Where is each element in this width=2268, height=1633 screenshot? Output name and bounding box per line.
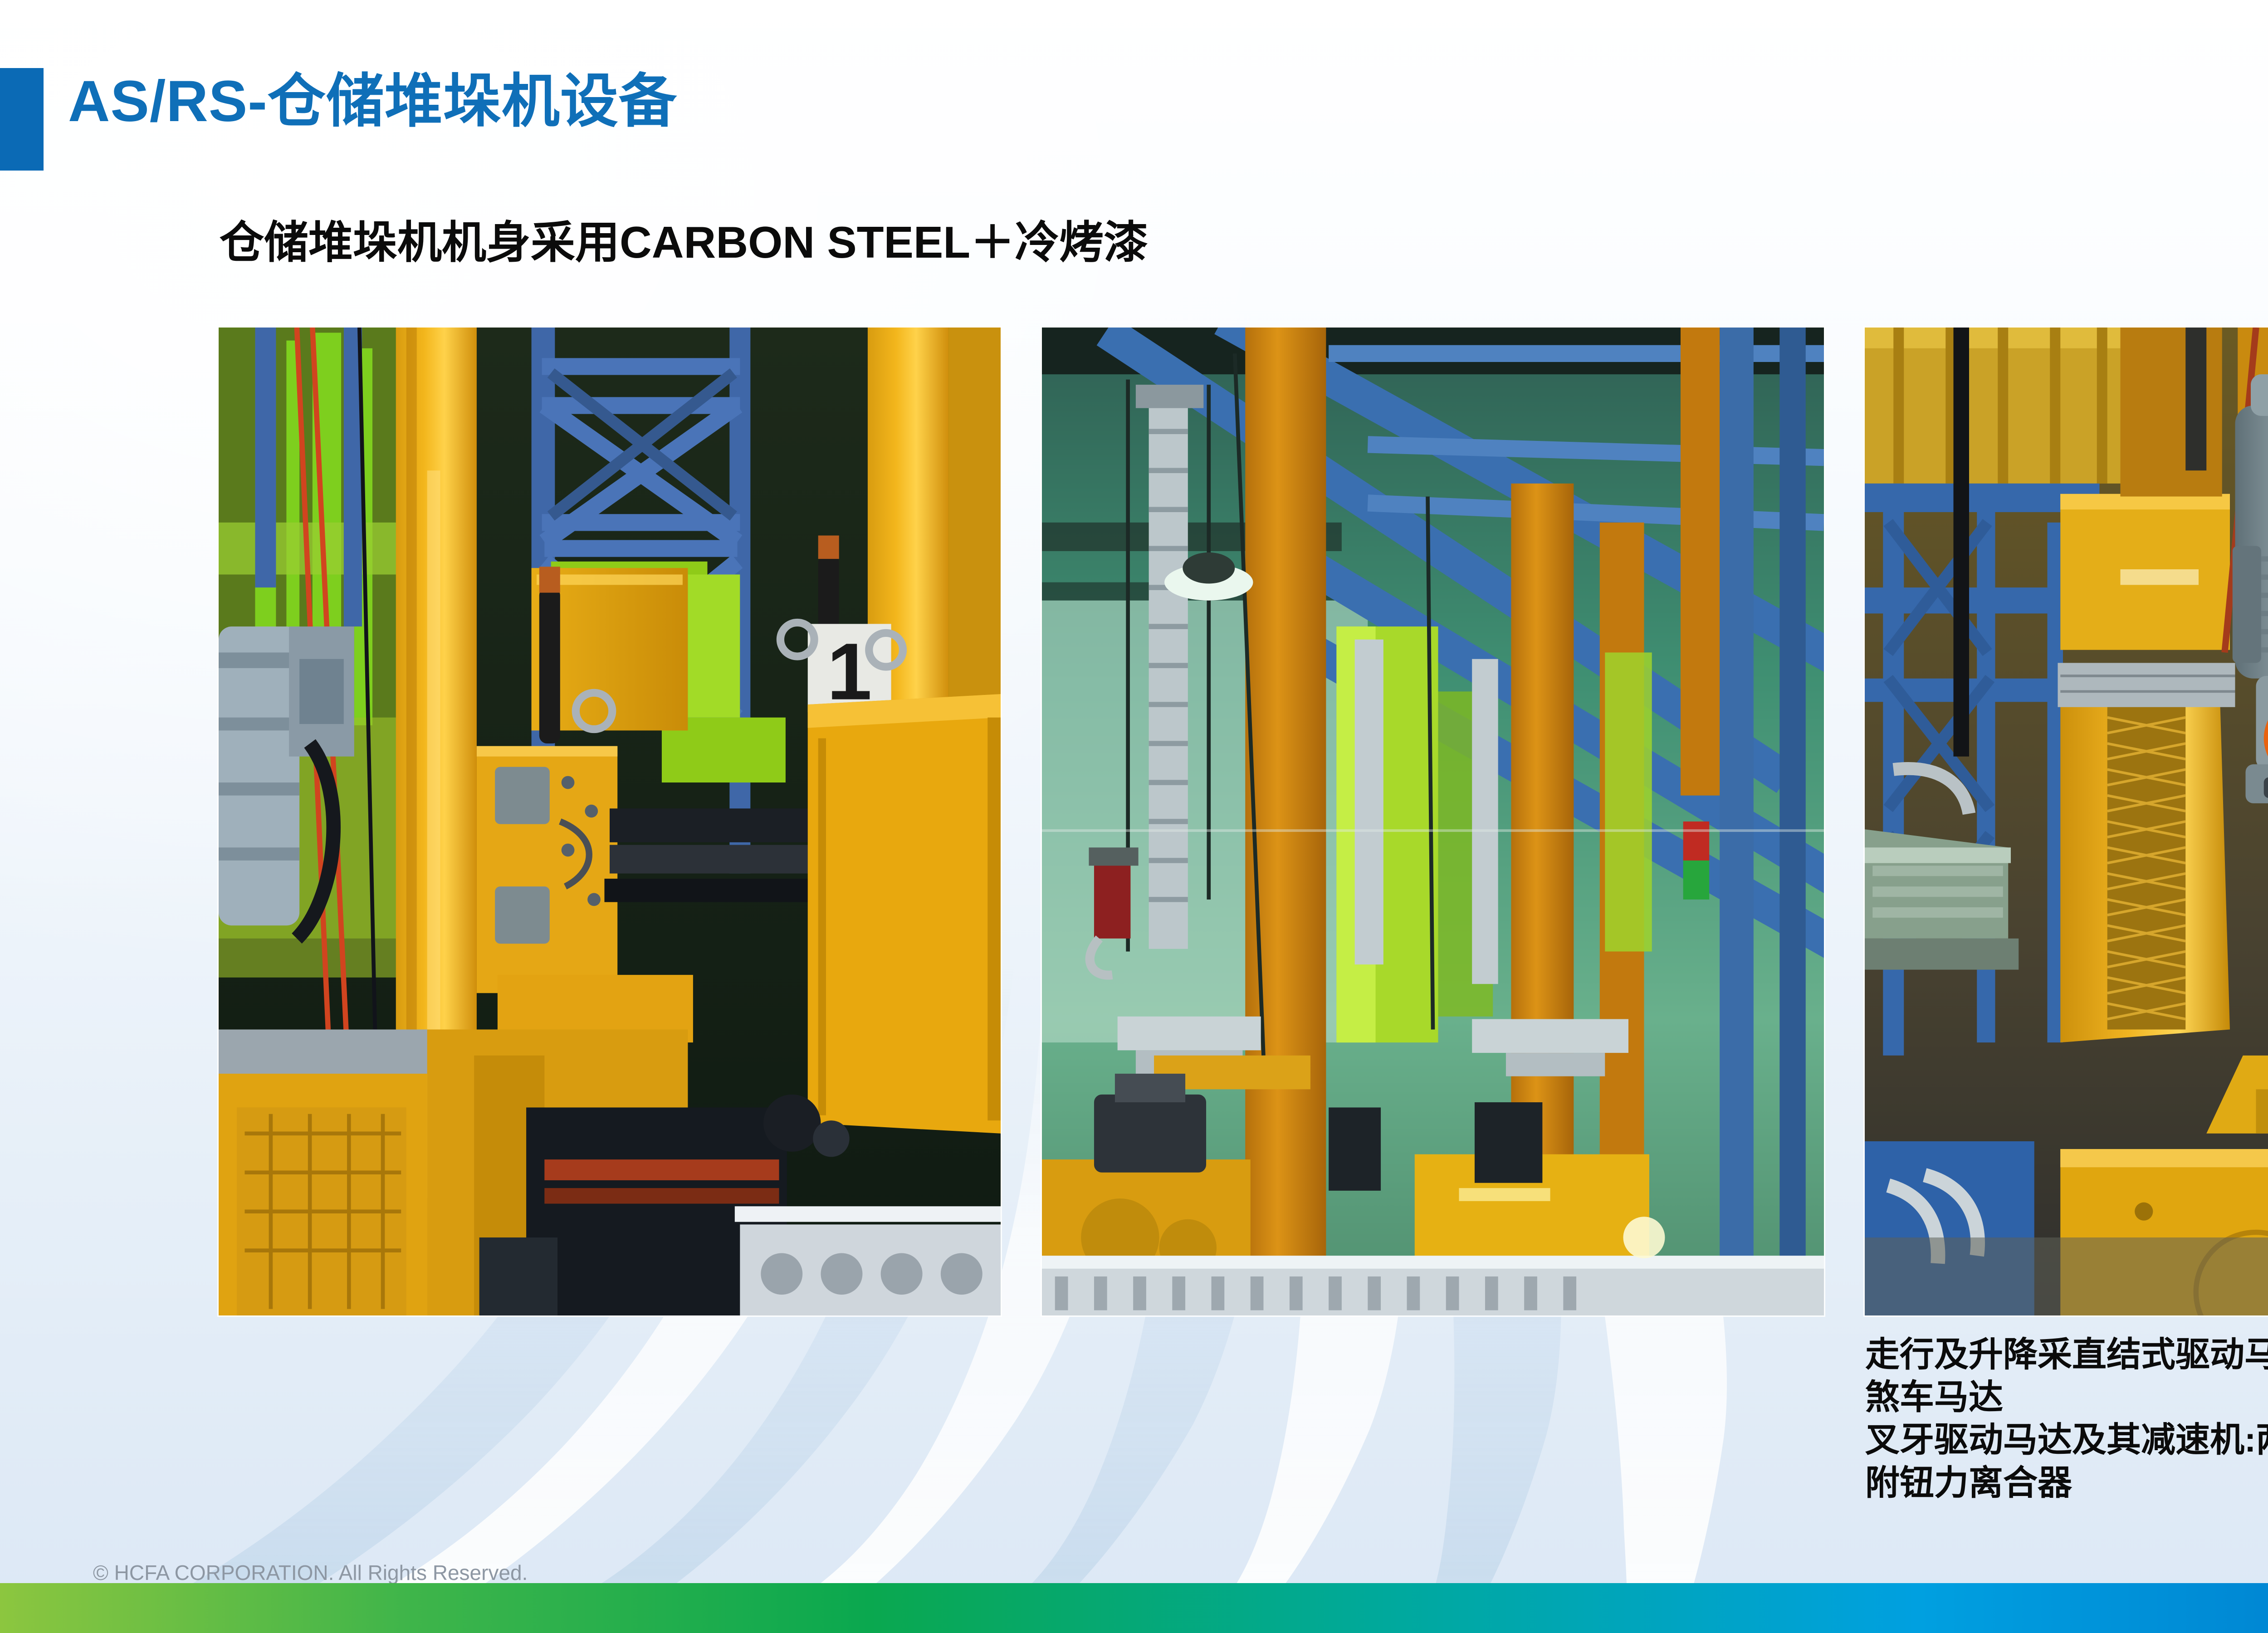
photo-caption: 走行及升降采直结式驱动马达及其减速机:附 煞车马达 叉牙驱动马达及其减速机:两者… — [1865, 1334, 2268, 1505]
stacker-crane-illustration: 1 — [219, 328, 1001, 1315]
photo-stacker-crane-mast: 1 — [219, 328, 1001, 1315]
photo-drive-motor-gearbox — [1865, 328, 2268, 1315]
bottom-gradient-bar — [0, 1583, 2268, 1633]
title-accent-bar — [0, 68, 44, 171]
page-title: AS/RS-仓储堆垛机设备 — [68, 73, 677, 131]
subtitle-text: 仓储堆垛机机身采用CARBON STEEL＋冷烤漆 — [220, 206, 1148, 271]
caption-line-2: 煞车马达 — [1865, 1376, 2268, 1419]
caption-line-3: 叉牙驱动马达及其减速机:两者间 — [1865, 1419, 2268, 1462]
slide-canvas: AS/RS-仓储堆垛机设备 仓储堆垛机机身采用CARBON STEEL＋冷烤漆 — [0, 0, 2268, 1633]
caption-line-4: 附钮力离合器 — [1865, 1462, 2268, 1505]
drive-motor-illustration — [1865, 328, 2268, 1315]
caption-line-1: 走行及升降采直结式驱动马达及其减速机:附 — [1865, 1334, 2268, 1376]
copyright-text: © HCFA CORPORATION. All Rights Reserved. — [93, 1560, 528, 1585]
warehouse-interior-illustration — [1042, 328, 1824, 1315]
photo-warehouse-aisle — [1042, 328, 1824, 1315]
